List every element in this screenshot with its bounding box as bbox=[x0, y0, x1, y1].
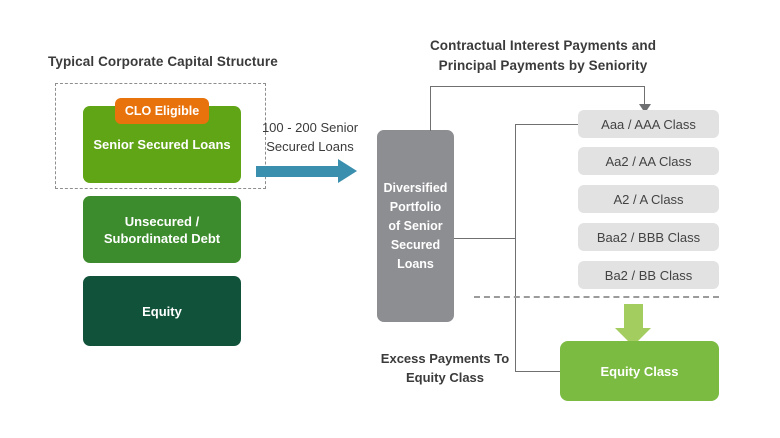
rated-equity-separator bbox=[474, 296, 719, 298]
tranche-box-a2: A2 / A Class bbox=[578, 185, 719, 213]
capital-tier-unsecured-line2: Subordinated Debt bbox=[104, 231, 220, 246]
excess-payments-note-line2: Equity Class bbox=[380, 368, 510, 387]
loan-transfer-arrowhead-icon bbox=[338, 159, 357, 183]
capital-tier-unsecured-line1: Unsecured / bbox=[125, 214, 199, 229]
tranche-bracket-spine bbox=[515, 124, 516, 372]
diversified-portfolio-line3: of Senior bbox=[388, 219, 442, 233]
payments-connector-right-segment bbox=[644, 86, 645, 106]
loan-transfer-arrow-icon bbox=[256, 166, 340, 177]
tranche-box-aaa: Aaa / AAA Class bbox=[578, 110, 719, 138]
capital-tier-equity-label: Equity bbox=[142, 303, 182, 320]
left-section-title: Typical Corporate Capital Structure bbox=[48, 54, 278, 69]
diversified-portfolio-line4: Secured bbox=[391, 238, 440, 252]
tranche-box-aa2: Aa2 / AA Class bbox=[578, 147, 719, 175]
diversified-portfolio-line5: Loans bbox=[397, 257, 434, 271]
payments-connector-left-segment bbox=[430, 86, 431, 131]
clo-eligible-badge: CLO Eligible bbox=[115, 98, 209, 124]
clo-eligible-badge-label: CLO Eligible bbox=[125, 104, 199, 118]
loan-transfer-label-line1: 100 - 200 Senior bbox=[249, 118, 371, 137]
tranche-label-aa2: Aa2 / AA Class bbox=[606, 154, 692, 169]
capital-tier-senior-secured-loans-label: Senior Secured Loans bbox=[93, 136, 230, 153]
right-section-title: Contractual Interest Payments and Princi… bbox=[423, 36, 663, 76]
tranche-label-aaa: Aaa / AAA Class bbox=[601, 117, 696, 132]
equity-class-box: Equity Class bbox=[560, 341, 719, 401]
excess-payments-note: Excess Payments To Equity Class bbox=[380, 349, 510, 387]
tranche-box-baa2: Baa2 / BBB Class bbox=[578, 223, 719, 251]
diversified-portfolio-label: Diversified Portfolio of Senior Secured … bbox=[384, 179, 448, 274]
equity-waterfall-arrow-icon bbox=[624, 304, 643, 330]
tranche-label-baa2: Baa2 / BBB Class bbox=[597, 230, 700, 245]
tranche-label-ba2: Ba2 / BB Class bbox=[605, 268, 692, 283]
tranche-label-a2: A2 / A Class bbox=[613, 192, 683, 207]
right-section-title-line2: Principal Payments by Seniority bbox=[423, 56, 663, 76]
diversified-portfolio-line2: Portfolio bbox=[390, 200, 441, 214]
diversified-portfolio-box: Diversified Portfolio of Senior Secured … bbox=[377, 130, 454, 322]
capital-tier-equity: Equity bbox=[83, 276, 241, 346]
payments-connector-top-segment bbox=[430, 86, 645, 87]
loan-transfer-label-line2: Secured Loans bbox=[249, 137, 371, 156]
loan-transfer-label: 100 - 200 Senior Secured Loans bbox=[249, 118, 371, 156]
tranche-bracket-top-branch bbox=[515, 124, 579, 125]
clo-structure-diagram: Typical Corporate Capital Structure Cont… bbox=[0, 0, 780, 438]
capital-tier-unsecured-label: Unsecured / Subordinated Debt bbox=[104, 213, 220, 247]
capital-tier-unsecured-subordinated-debt: Unsecured / Subordinated Debt bbox=[83, 196, 241, 263]
tranche-bracket-stub bbox=[454, 238, 516, 239]
tranche-box-ba2: Ba2 / BB Class bbox=[578, 261, 719, 289]
equity-class-label: Equity Class bbox=[600, 364, 678, 379]
diversified-portfolio-line1: Diversified bbox=[384, 181, 448, 195]
right-section-title-line1: Contractual Interest Payments and bbox=[423, 36, 663, 56]
excess-payments-note-line1: Excess Payments To bbox=[380, 349, 510, 368]
